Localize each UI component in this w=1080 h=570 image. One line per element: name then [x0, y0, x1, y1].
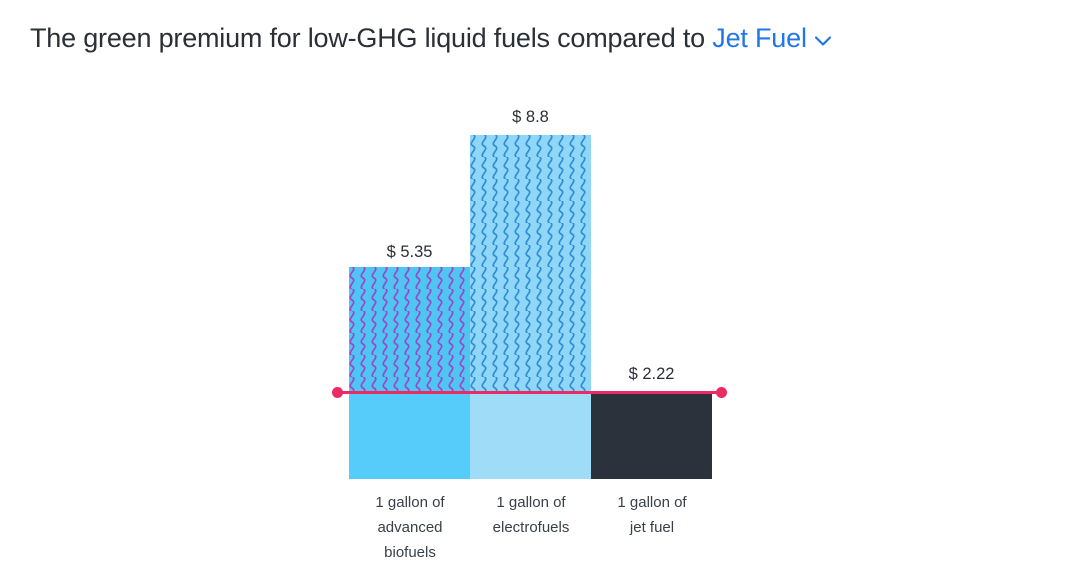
category-label-electrofuels: 1 gallon of electrofuels: [466, 490, 596, 540]
bar-premium-electrofuels[interactable]: [470, 135, 591, 392]
category-label-line: 1 gallon of: [466, 490, 596, 515]
category-label-jet-fuel: 1 gallon of jet fuel: [587, 490, 717, 540]
category-label-advanced-biofuels: 1 gallon of advanced biofuels: [345, 490, 475, 565]
bar-group-electrofuels[interactable]: [470, 0, 591, 570]
bar-group-advanced-biofuels[interactable]: [349, 0, 470, 570]
reference-line-dot-right: [716, 387, 727, 398]
bar-base-jet-fuel[interactable]: [591, 392, 712, 479]
category-label-line: electrofuels: [466, 515, 596, 540]
bar-base-advanced-biofuels[interactable]: [349, 392, 470, 479]
bar-group-jet-fuel[interactable]: [591, 0, 712, 570]
bar-chart: $ 5.35 $ 8.8 $ 2.22 1 gallon of advanced…: [0, 0, 1080, 570]
category-label-line: 1 gallon of: [345, 490, 475, 515]
category-label-line: 1 gallon of: [587, 490, 717, 515]
bar-premium-advanced-biofuels[interactable]: [349, 267, 470, 392]
reference-line-jet-fuel: [335, 391, 724, 394]
category-label-line: jet fuel: [587, 515, 717, 540]
reference-line-dot-left: [332, 387, 343, 398]
category-label-line: advanced: [345, 515, 475, 540]
bar-base-electrofuels[interactable]: [470, 392, 591, 479]
value-label-jet-fuel: $ 2.22: [591, 365, 712, 384]
value-label-electrofuels: $ 8.8: [470, 108, 591, 127]
value-label-advanced-biofuels: $ 5.35: [349, 243, 470, 262]
category-label-line: biofuels: [345, 540, 475, 565]
